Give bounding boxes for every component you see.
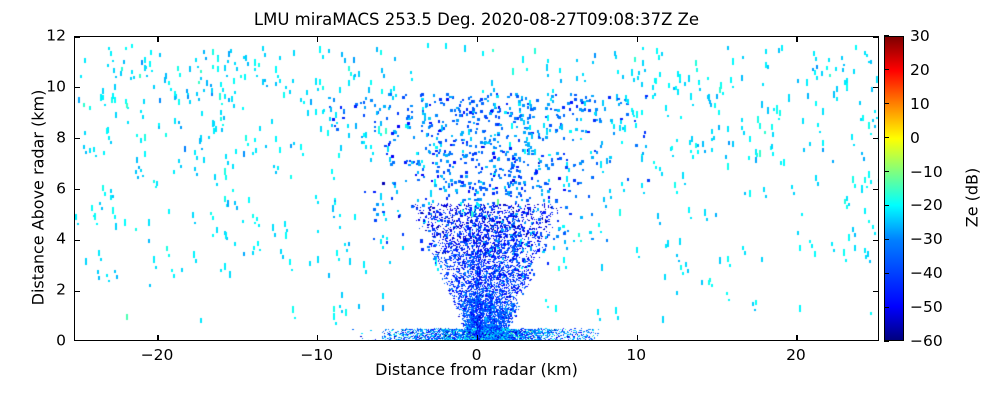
colorbar-gradient bbox=[884, 36, 904, 341]
figure: LMU miraMACS 253.5 Deg. 2020-08-27T09:08… bbox=[0, 0, 1000, 400]
colorbar-tick bbox=[884, 307, 889, 308]
x-tick bbox=[477, 37, 478, 42]
colorbar-tick-label: 0 bbox=[910, 129, 920, 147]
colorbar-tick-label: 10 bbox=[910, 95, 930, 113]
y-tick bbox=[873, 240, 878, 241]
y-tick-label: 0 bbox=[0, 333, 66, 349]
y-tick bbox=[873, 291, 878, 292]
y-tick bbox=[75, 36, 80, 37]
y-tick bbox=[873, 138, 878, 139]
y-tick bbox=[873, 36, 878, 37]
colorbar-tick bbox=[884, 171, 889, 172]
y-tick bbox=[75, 240, 80, 241]
y-tick bbox=[873, 87, 878, 88]
colorbar-tick-label: −30 bbox=[910, 230, 943, 248]
scatter-canvas bbox=[75, 37, 879, 341]
colorbar-tick-label: −60 bbox=[910, 332, 943, 350]
x-tick bbox=[796, 37, 797, 42]
y-tick bbox=[75, 291, 80, 292]
colorbar-tick-label: −20 bbox=[910, 196, 943, 214]
x-tick bbox=[796, 335, 797, 340]
x-tick bbox=[157, 335, 158, 340]
colorbar-tick bbox=[884, 273, 889, 274]
colorbar-tick bbox=[884, 137, 889, 138]
x-axis-label: Distance from radar (km) bbox=[74, 360, 879, 379]
x-tick bbox=[317, 335, 318, 340]
colorbar-tick bbox=[884, 340, 889, 341]
colorbar-tick-label: −40 bbox=[910, 264, 943, 282]
colorbar-label: Ze (dB) bbox=[963, 78, 982, 318]
colorbar-tick-label: −50 bbox=[910, 298, 943, 316]
x-tick bbox=[477, 335, 478, 340]
chart-title: LMU miraMACS 253.5 Deg. 2020-08-27T09:08… bbox=[74, 10, 879, 29]
colorbar-tick bbox=[884, 69, 889, 70]
x-tick bbox=[317, 37, 318, 42]
colorbar-tick bbox=[884, 35, 889, 36]
x-tick bbox=[637, 37, 638, 42]
x-tick bbox=[637, 335, 638, 340]
colorbar-tick-label: 20 bbox=[910, 61, 930, 79]
x-tick bbox=[157, 37, 158, 42]
colorbar-tick-label: 30 bbox=[910, 27, 930, 45]
y-axis-label: Distance Above radar (km) bbox=[29, 68, 48, 328]
colorbar-tick-label: −10 bbox=[910, 163, 943, 181]
y-tick bbox=[873, 189, 878, 190]
colorbar: −60−50−40−30−20−100102030 bbox=[884, 36, 904, 341]
y-tick bbox=[75, 87, 80, 88]
y-tick bbox=[75, 189, 80, 190]
colorbar-tick bbox=[884, 103, 889, 104]
y-tick bbox=[75, 138, 80, 139]
plot-area bbox=[74, 36, 879, 341]
colorbar-tick bbox=[884, 205, 889, 206]
colorbar-tick bbox=[884, 239, 889, 240]
y-tick-label: 12 bbox=[0, 28, 66, 44]
